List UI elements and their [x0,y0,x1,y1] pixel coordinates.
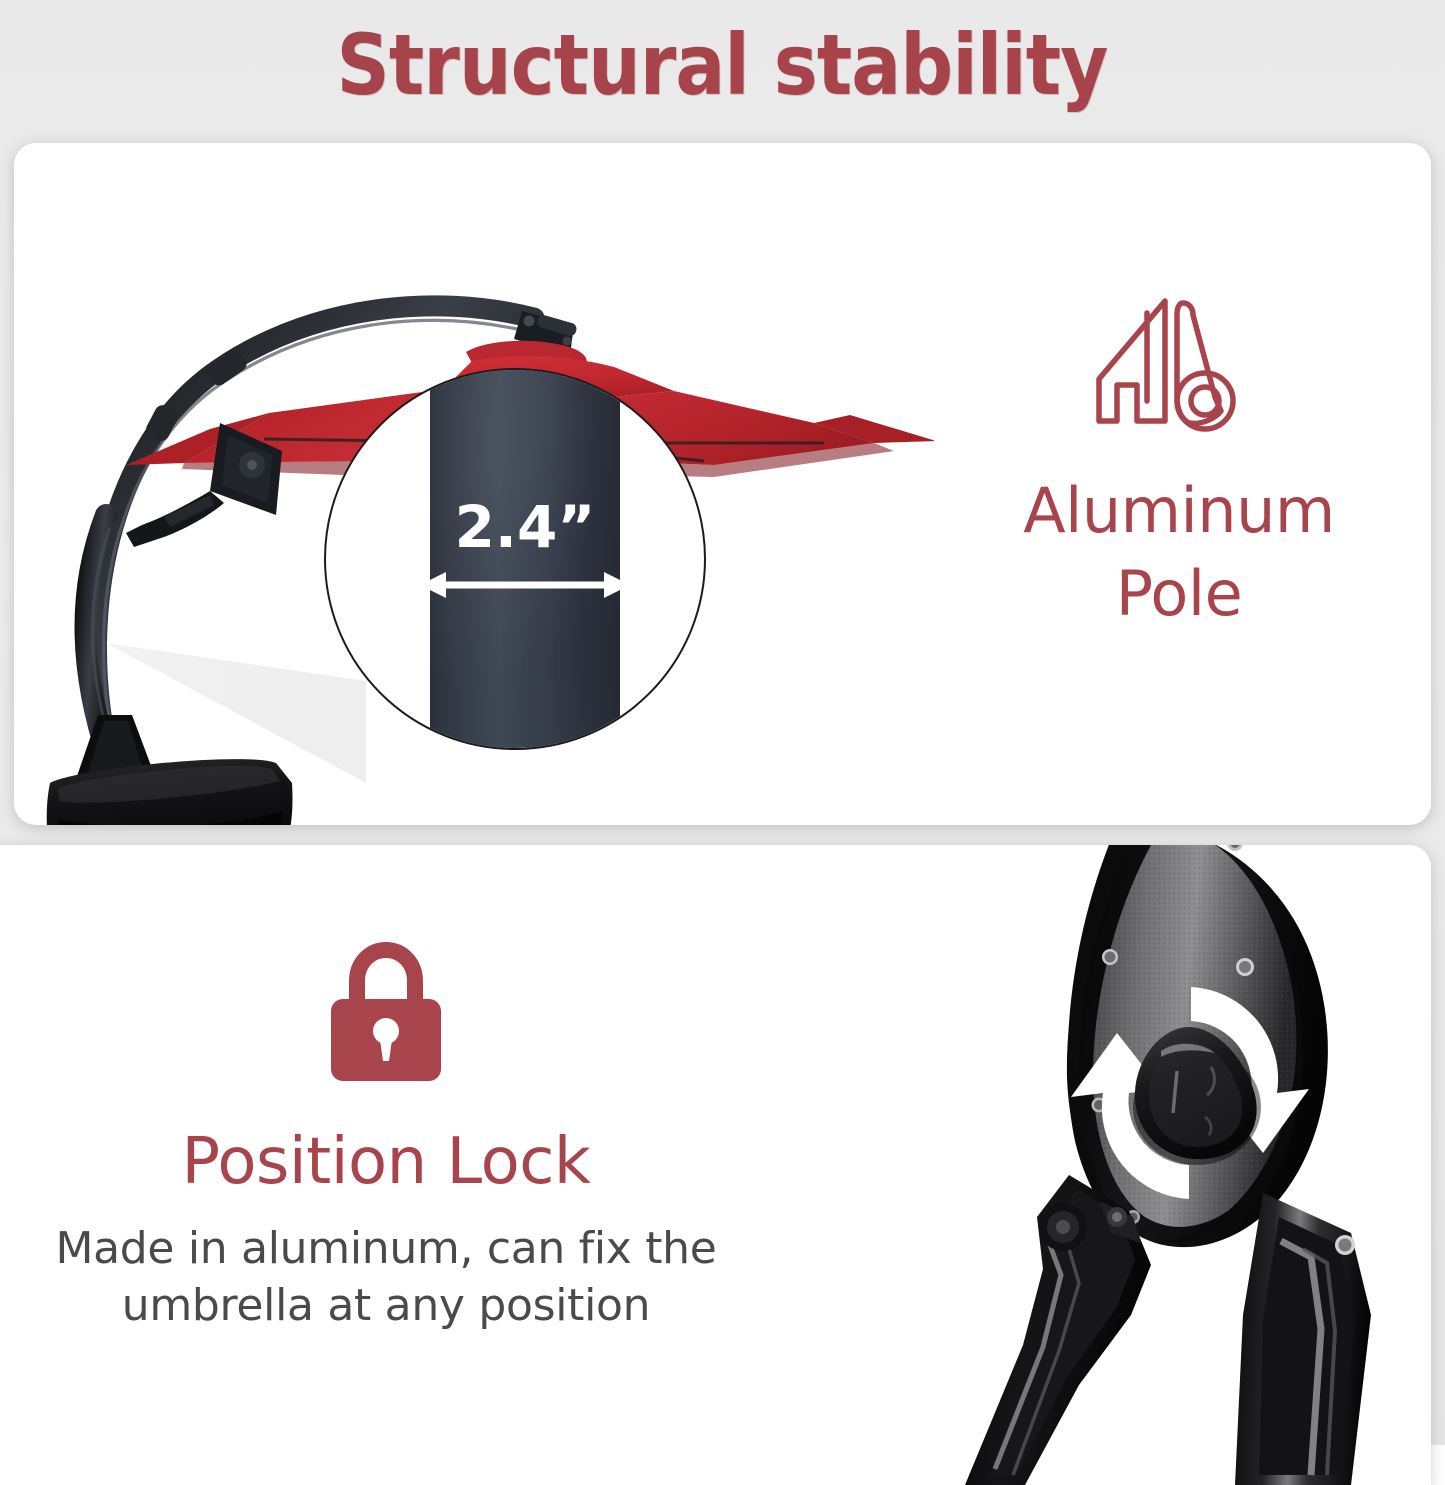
aluminum-pole-label-line1: Aluminum [1023,474,1335,547]
magnifier-circle: 2.4” [324,368,706,750]
position-lock-body: Made in aluminum, can fix the umbrella a… [36,1221,736,1334]
page-title-band: Structural stability [0,0,1445,130]
feature-aluminum-pole: Aluminum Pole [944,293,1414,635]
feature-position-lock: Position Lock Made in aluminum, can fix … [36,935,736,1334]
pole-diameter-label: 2.4” [430,498,620,556]
page-title: Structural stability [337,23,1108,107]
hinge-lower-arm [965,1175,1151,1485]
infographic-page: Structural stability [0,0,1445,1445]
bottom-feature-card: Position Lock Made in aluminum, can fix … [0,845,1431,1485]
padlock-icon [321,935,451,1085]
double-headed-arrow-icon [418,568,632,602]
aluminum-pole-label-line2: Pole [1116,557,1242,630]
position-lock-title: Position Lock [36,1127,736,1197]
position-lock-body-line1: Made in aluminum, can fix the [55,1223,716,1274]
aluminum-pole-label: Aluminum Pole [944,469,1414,635]
aluminum-profile-icon [1089,293,1269,433]
umbrella-weighted-base [47,715,293,825]
top-feature-card: 2.4” Aluminum Pole [14,143,1431,825]
position-lock-body-line2: umbrella at any position [122,1280,650,1331]
position-lock-hinge-photo [811,845,1431,1485]
hinge-main-pole-arm [1235,1193,1371,1485]
